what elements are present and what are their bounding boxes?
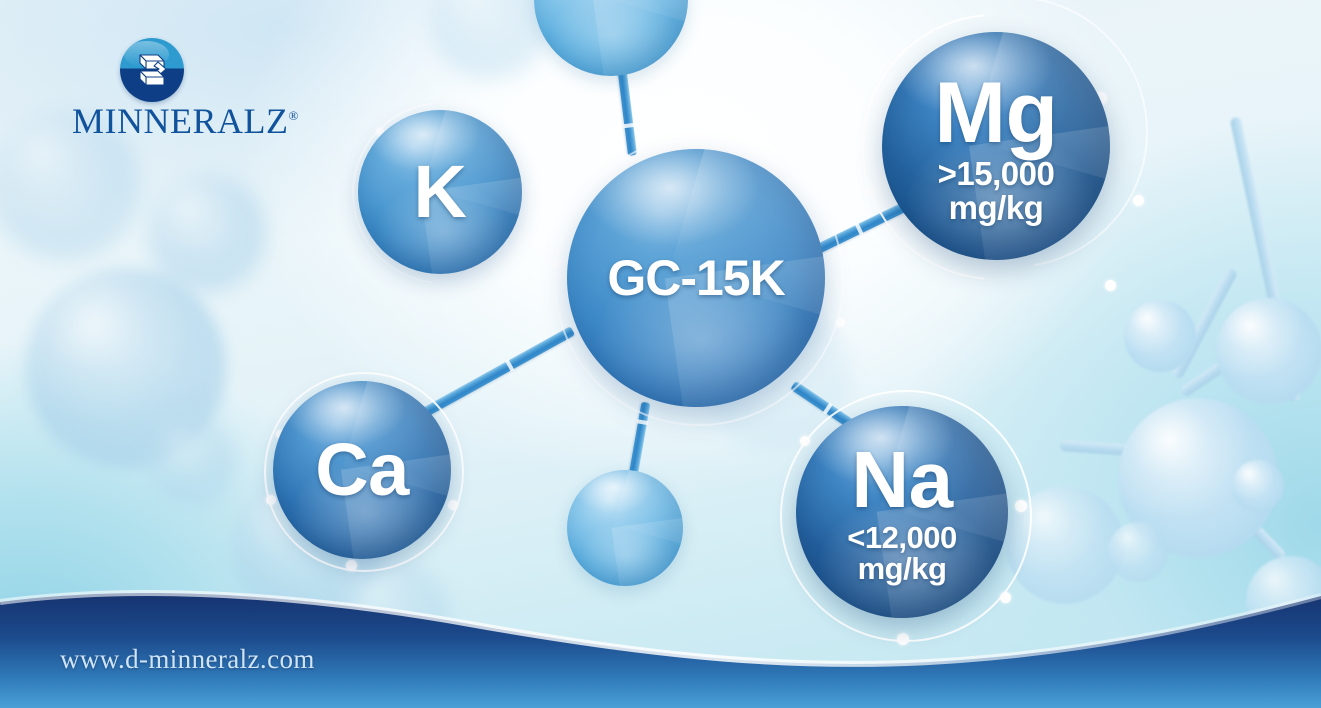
background-molecule-sphere bbox=[1232, 460, 1284, 512]
registered-trademark-icon: ® bbox=[288, 108, 298, 123]
orbit-node bbox=[836, 318, 845, 327]
footer-website-url[interactable]: www.d-minneralz.com bbox=[60, 644, 315, 675]
brand-name-text: MINNERALZ bbox=[72, 101, 288, 141]
hexagon-arrow-logo-icon bbox=[120, 38, 184, 102]
element-bubble-mg[interactable]: Mg >15,000 mg/kg bbox=[882, 32, 1110, 260]
orbit-node bbox=[1015, 500, 1027, 512]
footer-wave: www.d-minneralz.com bbox=[0, 568, 1321, 708]
poster-canvas: K Mg >15,000 mg/kg Ca Na <12,000 mg/kg G… bbox=[0, 0, 1321, 708]
center-bubble-label: GC-15K bbox=[607, 254, 784, 303]
orbit-node bbox=[552, 258, 561, 267]
element-value-mg: >15,000 bbox=[938, 157, 1055, 191]
orbit-node bbox=[1133, 195, 1144, 206]
brand-logo[interactable]: MINNERALZ® bbox=[72, 38, 302, 158]
background-sphere bbox=[148, 174, 266, 292]
element-symbol-na: Na bbox=[851, 441, 952, 519]
element-symbol-ca: Ca bbox=[315, 434, 409, 507]
background-molecule-sphere bbox=[1216, 298, 1321, 404]
orbit-node bbox=[1105, 280, 1116, 291]
element-symbol-mg: Mg bbox=[934, 71, 1057, 155]
center-bubble-gc15k[interactable]: GC-15K bbox=[567, 149, 825, 407]
element-symbol-k: K bbox=[414, 156, 467, 229]
element-bubble-k[interactable]: K bbox=[358, 110, 522, 274]
orbit-node bbox=[866, 186, 876, 196]
element-bubble-ca[interactable]: Ca bbox=[273, 381, 451, 559]
element-value-na: <12,000 bbox=[847, 522, 956, 554]
brand-wordmark: MINNERALZ® bbox=[72, 100, 302, 142]
background-molecule-sphere bbox=[1124, 300, 1196, 372]
background-sphere bbox=[150, 420, 236, 506]
element-unit-mg: mg/kg bbox=[949, 191, 1044, 225]
